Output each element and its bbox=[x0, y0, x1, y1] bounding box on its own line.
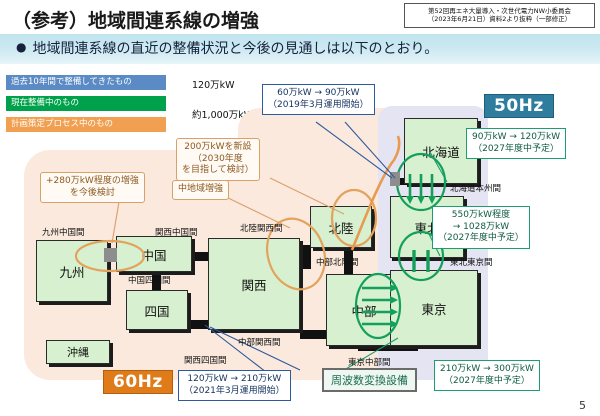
label-kansai-chugoku: 関西中国間 bbox=[155, 226, 198, 238]
callout-new200-line1: 200万kWを新設 bbox=[182, 142, 254, 154]
legend-item-in-progress: 現在整備中のもの bbox=[6, 96, 166, 111]
region-shikoku[interactable]: 四国 bbox=[126, 290, 188, 330]
bullet-statement: ●地域間連系線の直近の整備状況と今後の見通しは以下のとおり。 bbox=[16, 38, 438, 58]
callout-new-200mw: 200万kWを新設 （2030年度 を目指して検討） bbox=[176, 138, 260, 181]
legend-item-planning: 計画策定プロセス中のもの bbox=[6, 117, 166, 132]
callout-middle-area-line1: 中地域増強 bbox=[178, 184, 223, 196]
callout-kansai-shikoku-line1: 120万kW → 210万kW bbox=[184, 374, 285, 386]
callout-plus-280mw: +280万kW程度の増強 を今後検討 bbox=[40, 172, 145, 203]
label-hokuriku-kansai: 北陸関西間 bbox=[240, 222, 283, 234]
badge-60hz: 60Hz bbox=[103, 370, 173, 394]
tie-hokuriku-kansai bbox=[302, 245, 311, 269]
legend-item-past: 過去10年間で整備してきたもの bbox=[6, 75, 166, 90]
callout-tokyo-chubu: 210万kW → 300万kW （2027年度中予定） bbox=[434, 360, 540, 391]
callout-kansai-shikoku-line2: （2021年3月運用開始） bbox=[184, 386, 285, 398]
bullet-marker-icon: ● bbox=[16, 40, 26, 54]
callout-plus280-line1: +280万kW程度の増強 bbox=[46, 176, 139, 188]
page-number: 5 bbox=[579, 399, 586, 412]
badge-50hz: 50Hz bbox=[484, 94, 554, 118]
callout-hokkaido-future-line2: （2027年度中予定） bbox=[472, 144, 560, 156]
page-title: （参考）地域間連系線の増強 bbox=[12, 6, 259, 33]
label-kyushu-chugoku: 九州中国間 bbox=[42, 226, 85, 238]
label-chubu-hokuriku: 中部北陸間 bbox=[316, 256, 359, 268]
label-kansai-shikoku: 関西四国間 bbox=[184, 354, 227, 366]
label-tohoku-tokyo: 東北東京間 bbox=[450, 256, 493, 268]
label-chubu-kansai: 中部関西間 bbox=[238, 336, 281, 348]
reference-source-box: 第52回再エネ大量導入・次世代電力NW小委員会 （2023年6月21日）資料2よ… bbox=[404, 3, 595, 28]
region-kyushu[interactable]: 九州 bbox=[36, 240, 108, 302]
frequency-converter-box: 周波数変換設備 bbox=[322, 368, 417, 392]
region-hokuriku[interactable]: 北陸 bbox=[310, 206, 372, 248]
callout-tohoku-tokyo-line1: 550万kW程度 bbox=[438, 210, 524, 222]
callout-kansai-shikoku: 120万kW → 210万kW （2021年3月運用開始） bbox=[178, 370, 291, 401]
tie-chubu-kansai bbox=[300, 330, 328, 339]
callout-hokkaido-past-line1: 60万kW → 90万kW bbox=[268, 88, 369, 100]
slide-root: （参考）地域間連系線の増強 第52回再エネ大量導入・次世代電力NW小委員会 （2… bbox=[0, 0, 600, 416]
callout-hokkaido-past-line2: （2019年3月運用開始） bbox=[268, 100, 369, 112]
label-hokkaido-honshu: 北海道本州間 bbox=[450, 182, 501, 194]
callout-tohoku-tokyo-line2: → 1028万kW bbox=[438, 222, 524, 234]
reference-line-2: （2023年6月21日）資料2より抜粋（一部修正） bbox=[428, 16, 571, 23]
region-kansai[interactable]: 関西 bbox=[208, 238, 300, 330]
callout-new200-line3: を目指して検討） bbox=[182, 165, 254, 177]
callout-tokyo-chubu-line1: 210万kW → 300万kW bbox=[440, 364, 534, 376]
callout-tohoku-tokyo: 550万kW程度 → 1028万kW （2027年度中予定） bbox=[432, 206, 530, 249]
legend: 過去10年間で整備してきたもの 現在整備中のもの 計画策定プロセス中のもの 12… bbox=[6, 75, 256, 137]
callout-plus280-line2: を今後検討 bbox=[46, 188, 139, 200]
region-okinawa[interactable]: 沖縄 bbox=[46, 340, 110, 364]
legend-value-past: 120万kW bbox=[192, 77, 235, 91]
callout-tokyo-chubu-line2: （2027年度中予定） bbox=[440, 376, 534, 388]
callout-hokkaido-honshu-future: 90万kW → 120万kW （2027年度中予定） bbox=[466, 128, 566, 159]
callout-new200-line2: （2030年度 bbox=[182, 154, 254, 166]
bullet-statement-text: 地域間連系線の直近の整備状況と今後の見通しは以下のとおり。 bbox=[32, 41, 438, 57]
region-chugoku[interactable]: 中国 bbox=[116, 236, 192, 272]
label-tokyo-chubu: 東京中部間 bbox=[348, 356, 391, 368]
callout-hokkaido-future-line1: 90万kW → 120万kW bbox=[472, 132, 560, 144]
callout-hokkaido-honshu-past: 60万kW → 90万kW （2019年3月運用開始） bbox=[262, 84, 375, 115]
callout-middle-area: 中地域増強 bbox=[172, 180, 229, 200]
region-tokyo[interactable]: 東京 bbox=[390, 270, 478, 346]
callout-tohoku-tokyo-line3: （2027年度中予定） bbox=[438, 233, 524, 245]
label-chugoku-shikoku: 中国四国間 bbox=[128, 274, 171, 286]
